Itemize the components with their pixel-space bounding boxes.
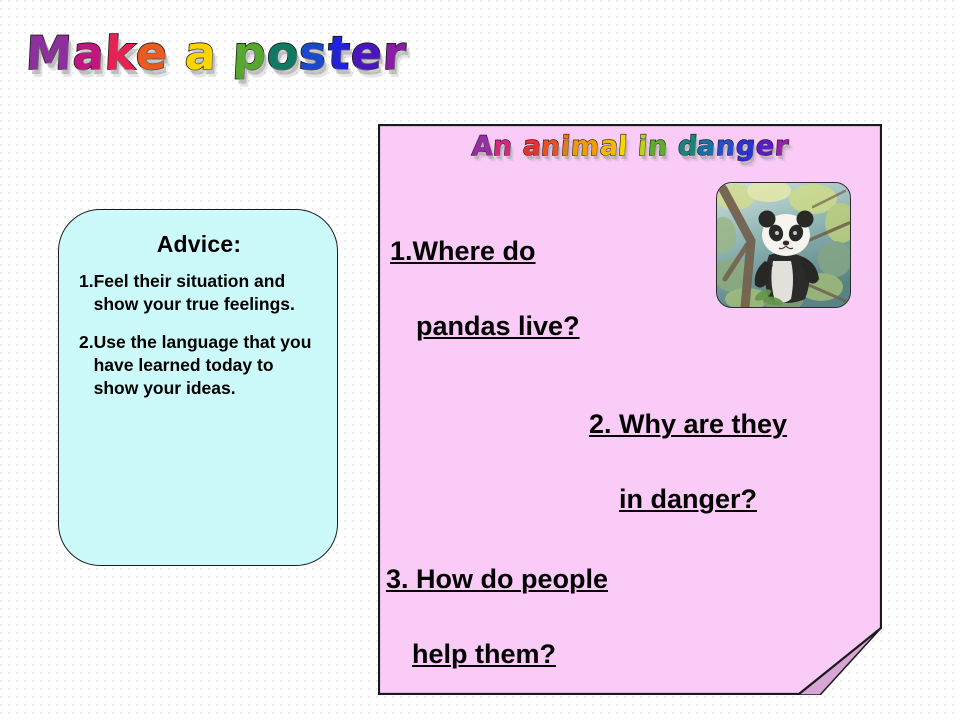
advice-box: Advice: 1. Feel their situation and show…	[58, 209, 338, 566]
poster-title-letter-17: e	[755, 133, 776, 160]
question-line: 3. How do people	[386, 564, 608, 594]
headline-letter-9: s	[298, 30, 329, 76]
headline-letter-10: t	[326, 30, 351, 76]
headline-letter-3: e	[135, 30, 170, 76]
poster-question-1: 1.Where do pandas live?	[390, 196, 580, 345]
poster-title-letter-4: n	[541, 133, 563, 160]
question-line: 2. Why are they	[589, 409, 787, 439]
question-line: help them?	[412, 639, 556, 669]
poster-title-letter-8: l	[617, 133, 629, 160]
poster-title-letter-6: m	[570, 133, 601, 160]
poster-title-letter-18: r	[774, 133, 790, 160]
headline-letter-5: a	[183, 30, 217, 76]
poster-title-letter-1: n	[492, 133, 514, 160]
poster-title-letter-11: n	[647, 133, 669, 160]
headline-letter-8: o	[265, 30, 300, 76]
poster-title-letter-15: n	[715, 133, 737, 160]
advice-item-number: 2.	[79, 331, 94, 354]
poster-question-3: 3. How do people help them?	[386, 524, 608, 673]
headline-letter-0: M	[25, 30, 74, 76]
poster-title-letter-13: d	[677, 133, 699, 160]
poster-question-2: 2. Why are they in danger?	[528, 369, 848, 518]
advice-title: Advice:	[75, 231, 323, 258]
page-fold-corner-icon	[798, 627, 882, 695]
headline-letter-11: e	[349, 30, 384, 76]
panda-photo	[716, 182, 851, 308]
advice-item-text: Use the language that you have learned t…	[94, 331, 323, 401]
poster-title-letter-14: a	[697, 133, 718, 160]
poster-title-wordart: Ananimalindanger	[378, 133, 882, 160]
advice-item-number: 1.	[79, 270, 94, 293]
advice-list-item: 1. Feel their situation and show your tr…	[79, 270, 323, 317]
question-line: 1.Where do	[390, 236, 536, 266]
headline-letter-12: r	[382, 30, 408, 76]
poster-sheet: Ananimalindanger	[378, 124, 882, 695]
headline-letter-2: k	[104, 30, 138, 76]
question-line: pandas live?	[416, 311, 580, 341]
advice-list-item: 2. Use the language that you have learne…	[79, 331, 323, 401]
panda-in-tree-image	[717, 183, 850, 307]
poster-title-letter-7: a	[599, 133, 620, 160]
question-line: in danger?	[619, 484, 757, 514]
poster-title-letter-16: g	[735, 133, 757, 160]
headline-letter-7: p	[231, 30, 267, 76]
advice-item-text: Feel their situation and show your true …	[94, 270, 323, 317]
poster-title-letter-0: A	[471, 133, 494, 160]
page-title-wordart: Makeaposter	[26, 30, 407, 76]
headline-letter-1: a	[72, 30, 106, 76]
